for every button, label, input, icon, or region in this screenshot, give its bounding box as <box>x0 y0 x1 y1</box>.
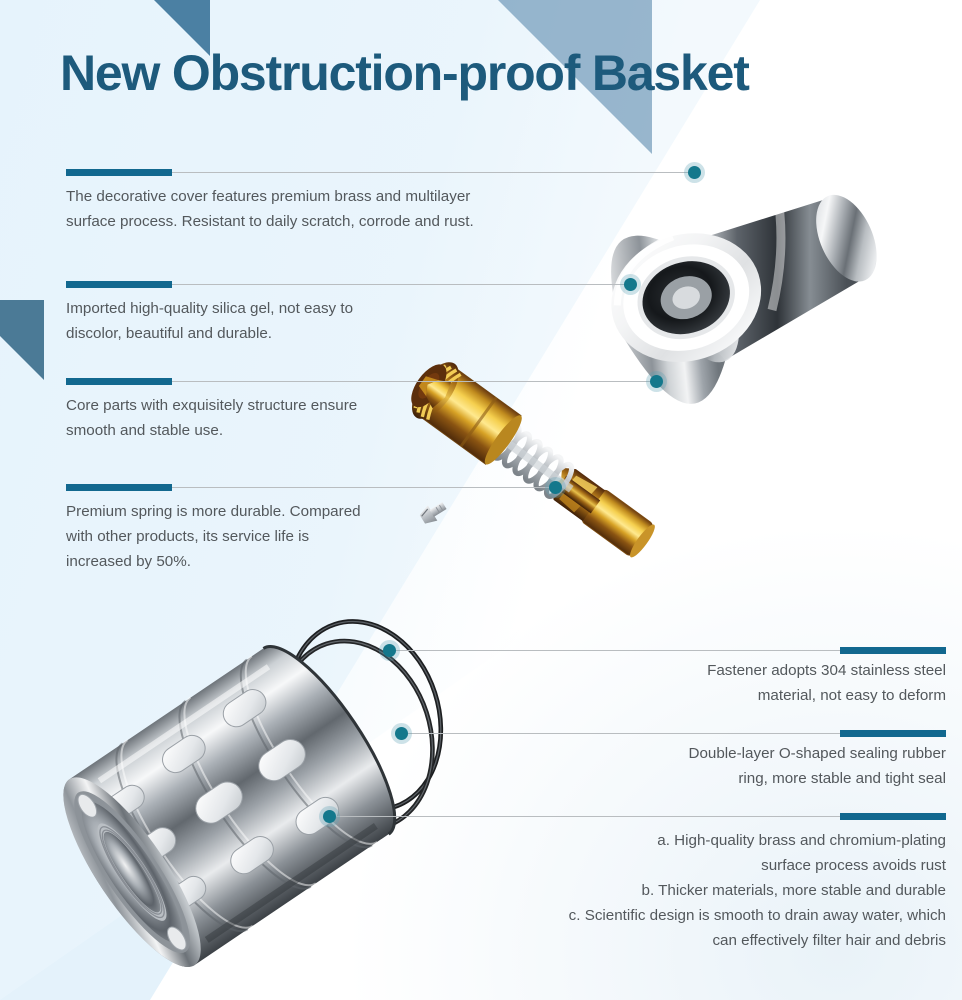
callout-tick-core-parts <box>66 378 172 385</box>
anchor-dot-sealing-ring <box>395 727 408 740</box>
callout-line: with other products, its service life is <box>66 524 486 549</box>
callout-tick-sealing-ring <box>840 730 946 737</box>
callout-tick-silica-gel <box>66 281 172 288</box>
callout-line: The decorative cover features premium br… <box>66 184 586 209</box>
callout-line: c. Scientific design is smooth to drain … <box>446 903 946 928</box>
infographic-root: New Obstruction-proof Basket <box>0 0 962 1000</box>
callout-tick-premium-spring <box>66 484 172 491</box>
callout-text-fastener: Fastener adopts 304 stainless steel mate… <box>546 658 946 708</box>
callout-line: Imported high-quality silica gel, not ea… <box>66 296 546 321</box>
callout-line: surface process avoids rust <box>446 853 946 878</box>
callout-line: a. High-quality brass and chromium-plati… <box>446 828 946 853</box>
callout-line: increased by 50%. <box>66 549 486 574</box>
callout-line: surface process. Resistant to daily scra… <box>66 209 586 234</box>
callout-line: b. Thicker materials, more stable and du… <box>446 878 946 903</box>
filter-basket-image <box>24 614 454 986</box>
callout-tick-basket-benefits <box>840 813 946 820</box>
callout-line: can effectively filter hair and debris <box>446 928 946 953</box>
callout-line: ring, more stable and tight seal <box>546 766 946 791</box>
anchor-dot-fastener <box>383 644 396 657</box>
callout-line: discolor, beautiful and durable. <box>66 321 546 346</box>
callout-text-sealing-ring: Double-layer O-shaped sealing rubber rin… <box>546 741 946 791</box>
page-title: New Obstruction-proof Basket <box>60 44 749 102</box>
callout-tick-decorative-cover <box>66 169 172 176</box>
anchor-dot-core-parts <box>650 375 663 388</box>
anchor-dot-premium-spring <box>549 481 562 494</box>
callout-tick-fastener <box>840 647 946 654</box>
callout-text-silica-gel: Imported high-quality silica gel, not ea… <box>66 296 546 346</box>
callout-line: Core parts with exquisitely structure en… <box>66 393 546 418</box>
anchor-dot-silica-gel <box>624 278 637 291</box>
anchor-dot-basket-benefits <box>323 810 336 823</box>
callout-text-premium-spring: Premium spring is more durable. Compared… <box>66 499 486 574</box>
callout-line: Double-layer O-shaped sealing rubber <box>546 741 946 766</box>
callout-line: smooth and stable use. <box>66 418 546 443</box>
callout-text-decorative-cover: The decorative cover features premium br… <box>66 184 586 234</box>
callout-text-basket-benefits: a. High-quality brass and chromium-plati… <box>446 828 946 953</box>
anchor-dot-decorative-cover <box>688 166 701 179</box>
callout-text-core-parts: Core parts with exquisitely structure en… <box>66 393 546 443</box>
callout-line: Premium spring is more durable. Compared <box>66 499 486 524</box>
callout-line: Fastener adopts 304 stainless steel <box>546 658 946 683</box>
callout-line: material, not easy to deform <box>546 683 946 708</box>
decorative-triangle-left-icon <box>0 300 44 380</box>
